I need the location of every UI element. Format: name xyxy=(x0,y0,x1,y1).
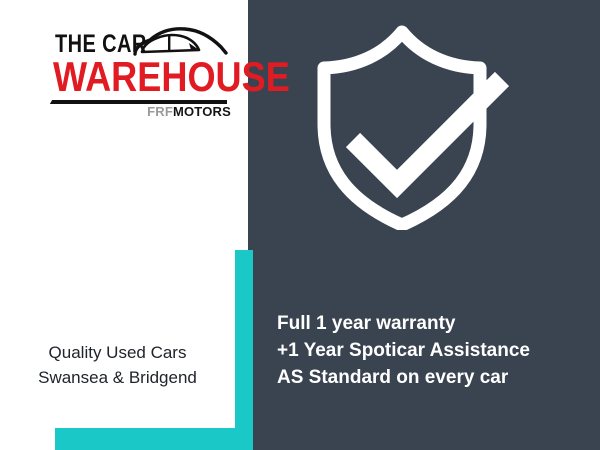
tagline-line-1: Quality Used Cars xyxy=(0,340,235,365)
logo-text-warehouse: WAREHOUSE xyxy=(53,56,290,98)
logo-subbrand-frf: FRF xyxy=(147,104,173,119)
logo-subbrand-motors: MOTORS xyxy=(173,104,231,119)
shield-check-icon xyxy=(312,20,537,230)
company-logo[interactable]: THE CAR WAREHOUSE FRFMOTORS xyxy=(55,30,230,120)
tagline-line-2: Swansea & Bridgend xyxy=(0,365,235,390)
teal-accent-horizontal-bar xyxy=(55,428,253,450)
teal-accent-vertical-bar xyxy=(235,250,253,450)
dealer-promo-banner: THE CAR WAREHOUSE FRFMOTORS Quality Used… xyxy=(0,0,600,450)
dealer-tagline: Quality Used Cars Swansea & Bridgend xyxy=(0,340,235,390)
headline-line-3: AS Standard on every car xyxy=(277,364,587,391)
logo-subbrand: FRFMOTORS xyxy=(147,105,231,119)
warranty-headline: Full 1 year warranty +1 Year Spoticar As… xyxy=(277,310,587,391)
headline-line-1: Full 1 year warranty xyxy=(277,310,587,337)
headline-line-2: +1 Year Spoticar Assistance xyxy=(277,337,587,364)
